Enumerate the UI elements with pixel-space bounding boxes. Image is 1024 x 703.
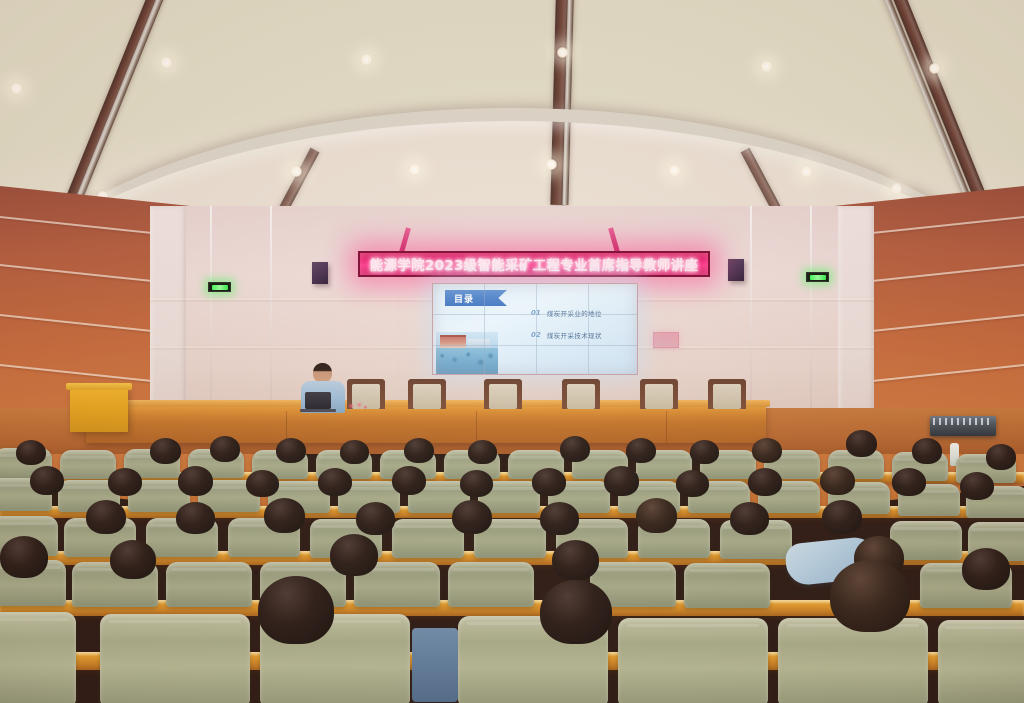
audience-head <box>912 438 942 464</box>
seat <box>166 562 252 607</box>
stage-table <box>86 405 766 443</box>
audience-head <box>246 470 279 497</box>
audience-head <box>690 440 719 464</box>
toc-item-2-label: 煤炭开采技术现状 <box>547 330 602 340</box>
seat-foreground <box>0 612 76 703</box>
toc-item-1: 01 煤炭开采业的地位 <box>531 308 602 318</box>
seat-foreground <box>778 618 928 703</box>
slide-section-tag-label: 目录 <box>454 292 474 305</box>
audience-head <box>318 468 352 496</box>
seat-foreground <box>618 618 768 703</box>
ceiling-downlight <box>668 164 681 177</box>
slide-section-tag: 目录 <box>445 290 507 306</box>
ceiling-downlight <box>800 165 813 178</box>
slide-building-photo <box>436 332 498 374</box>
audience-head <box>636 498 677 533</box>
audience-head <box>264 498 305 533</box>
ceiling-downlight <box>928 62 941 75</box>
audience-head <box>626 438 656 463</box>
seat-foreground <box>938 620 1024 703</box>
wall-notice-sign <box>653 332 679 348</box>
audience-head <box>210 436 240 462</box>
ceiling-downlight <box>290 165 303 178</box>
audience-head <box>846 430 877 457</box>
audience-clothing <box>412 628 458 702</box>
stage-chair <box>408 379 446 409</box>
audience-head <box>356 502 395 535</box>
audience-head <box>178 466 213 496</box>
banner-title-text: 能源学院2023级智能采矿工程专业首席指导教师讲座 <box>370 254 699 274</box>
ceiling-downlight <box>10 82 23 95</box>
audience-head <box>404 438 434 463</box>
ceiling-downlight <box>408 163 421 176</box>
seat <box>60 450 116 479</box>
audience-head <box>86 500 126 534</box>
stage-chair <box>484 379 522 409</box>
stage-chair <box>562 379 600 409</box>
audience-head <box>110 540 156 579</box>
audience-head-foreground <box>830 560 910 632</box>
led-video-wall[interactable]: 目录 01 煤炭开采业的地位 02 煤炭开采技术现状 <box>432 283 638 375</box>
audience-head <box>30 466 64 495</box>
led-banner: 能源学院2023级智能采矿工程专业首席指导教师讲座 <box>358 251 710 277</box>
presenter-laptop <box>305 392 331 409</box>
stage-chair <box>640 379 678 409</box>
wall-speaker-right-icon <box>728 259 744 281</box>
audience-head <box>532 468 566 496</box>
audience-head <box>820 466 855 495</box>
audience-head <box>892 468 926 496</box>
audience-head <box>392 466 426 495</box>
ceiling-downlight <box>160 56 173 69</box>
table-flowers <box>345 400 369 412</box>
wall-speaker-left-icon <box>312 262 328 284</box>
audience-head <box>0 536 48 578</box>
audience-head <box>176 502 215 534</box>
audience-head <box>452 500 492 534</box>
toc-item-2: 02 煤炭开采技术现状 <box>531 330 602 340</box>
audience-head <box>752 438 782 463</box>
audience-head-foreground <box>540 580 612 644</box>
ceiling-downlight <box>890 182 903 195</box>
audience-head <box>960 472 994 500</box>
toc-item-1-label: 煤炭开采业的地位 <box>547 308 602 318</box>
ceiling <box>0 0 1024 232</box>
audience-head <box>962 548 1010 590</box>
podium <box>70 388 128 432</box>
audience-head <box>822 500 862 534</box>
eyeglasses <box>893 485 907 489</box>
audience-head <box>748 468 782 496</box>
exit-sign-right-icon <box>806 272 829 282</box>
exit-sign-left-icon <box>208 282 231 292</box>
audience-head <box>108 468 142 496</box>
ceiling-downlight <box>545 158 558 171</box>
audience-head <box>340 440 369 464</box>
audience-head <box>276 438 306 463</box>
audience-head <box>460 470 493 497</box>
audience-head <box>16 440 46 465</box>
ceiling-downlight <box>360 53 373 66</box>
audience-head <box>540 502 579 535</box>
audience-head <box>986 444 1016 470</box>
audio-mixer-console[interactable] <box>930 416 996 436</box>
lecture-hall-photo: 能源学院2023级智能采矿工程专业首席指导教师讲座 目录 01 煤炭开采业的地位… <box>0 0 1024 703</box>
seat <box>684 563 770 608</box>
audience-head <box>330 534 378 576</box>
audience-head <box>730 502 769 535</box>
seat-foreground <box>100 614 250 703</box>
audience-head <box>560 436 590 462</box>
audience-head <box>150 438 181 464</box>
audience-head <box>676 470 709 497</box>
audience-head-foreground <box>258 576 334 644</box>
presenter-head <box>313 363 332 383</box>
ceiling-downlight <box>556 46 569 59</box>
ceiling-downlight <box>760 60 773 73</box>
audience-head <box>468 440 497 464</box>
seat <box>448 562 534 607</box>
audience-head <box>604 466 639 496</box>
audience-head <box>552 540 599 580</box>
stage-chair <box>708 379 746 409</box>
